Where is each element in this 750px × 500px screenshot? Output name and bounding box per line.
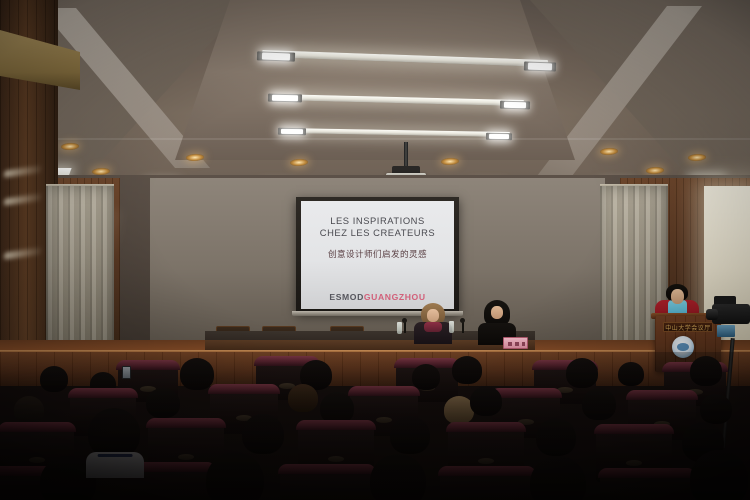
auditorium-seat[interactable] <box>440 468 534 500</box>
audience-head <box>88 408 140 458</box>
audience-head <box>470 386 502 416</box>
audience-head <box>390 416 430 454</box>
audience-head <box>146 388 180 418</box>
water-bottle <box>397 322 402 334</box>
slide-title-line-1: LES INSPIRATIONS <box>330 215 425 227</box>
audience-head <box>288 384 318 412</box>
audience-head <box>14 396 44 424</box>
slide-title-line-2: CHEZ LES CREATEURS <box>320 227 435 239</box>
audience-head <box>40 366 68 392</box>
fluorescent-strip-light-cap <box>524 61 556 71</box>
window-curtain-left[interactable] <box>46 186 114 358</box>
speaker-face <box>671 289 684 304</box>
audience-head <box>536 418 576 456</box>
water-bottle <box>449 321 454 333</box>
projection-screen: LES INSPIRATIONS CHEZ LES CREATEURS 创意设计… <box>301 201 454 309</box>
podium-nameplate-text: 中山大学会议厅 <box>665 323 711 332</box>
audience-seating-area <box>0 352 750 500</box>
audience-uniform-shoulders <box>86 452 144 478</box>
seat-number-badge <box>178 454 194 460</box>
seat-number-badge <box>626 460 642 466</box>
panelist-left-face <box>427 309 439 322</box>
audience-phone-recording[interactable] <box>122 366 131 379</box>
ceiling-center-panel <box>175 0 575 160</box>
brand-esmod: ESMOD <box>329 292 364 302</box>
audience-head <box>370 454 426 500</box>
audience-head <box>412 364 440 390</box>
projection-screen-frame: LES INSPIRATIONS CHEZ LES CREATEURS 创意设计… <box>296 197 459 313</box>
audience-head <box>206 452 264 500</box>
auditorium-photo: LES INSPIRATIONS CHEZ LES CREATEURS 创意设计… <box>0 0 750 500</box>
pink-name-placard <box>503 337 528 349</box>
audience-head <box>618 362 644 386</box>
ceiling-reveal-line <box>0 138 750 140</box>
audience-head <box>690 356 722 386</box>
audience-head <box>530 456 586 500</box>
auditorium-seat[interactable] <box>600 470 694 500</box>
brand-guangzhou: GUANGZHOU <box>364 292 426 302</box>
fluorescent-strip-light-cap <box>278 128 306 135</box>
audience-head <box>700 394 732 424</box>
slide-brand-footer: ESMODGUANGZHOU <box>301 292 454 302</box>
podium-nameplate: 中山大学会议厅 <box>663 322 713 332</box>
audience-head <box>242 414 284 454</box>
fluorescent-strip-light-cap <box>486 133 512 140</box>
panelist-left-scarf <box>424 322 442 332</box>
seat-number-badge <box>328 456 344 462</box>
audience-head <box>452 356 482 384</box>
seat-number-badge <box>478 458 494 464</box>
camera-lens <box>706 309 718 320</box>
audience-head <box>180 358 214 390</box>
audience-head <box>690 450 748 500</box>
audience-head <box>566 358 598 388</box>
table-microphone <box>402 318 407 323</box>
fluorescent-strip-light-cap <box>500 101 530 110</box>
table-microphone-stand <box>462 322 464 333</box>
camera-flip-screen <box>717 325 735 337</box>
audience-head <box>582 388 616 420</box>
panelist-right-face <box>491 306 503 319</box>
seat-number-badge <box>376 417 392 423</box>
auditorium-seat[interactable] <box>280 466 374 500</box>
fluorescent-strip-light-cap <box>257 51 295 61</box>
table-microphone <box>460 318 465 323</box>
slide-chinese-subtitle: 创意设计师们启发的灵感 <box>328 248 427 260</box>
table-microphone-stand <box>404 322 406 333</box>
seat-number-badge <box>29 457 45 463</box>
fluorescent-strip-light-cap <box>268 94 302 103</box>
